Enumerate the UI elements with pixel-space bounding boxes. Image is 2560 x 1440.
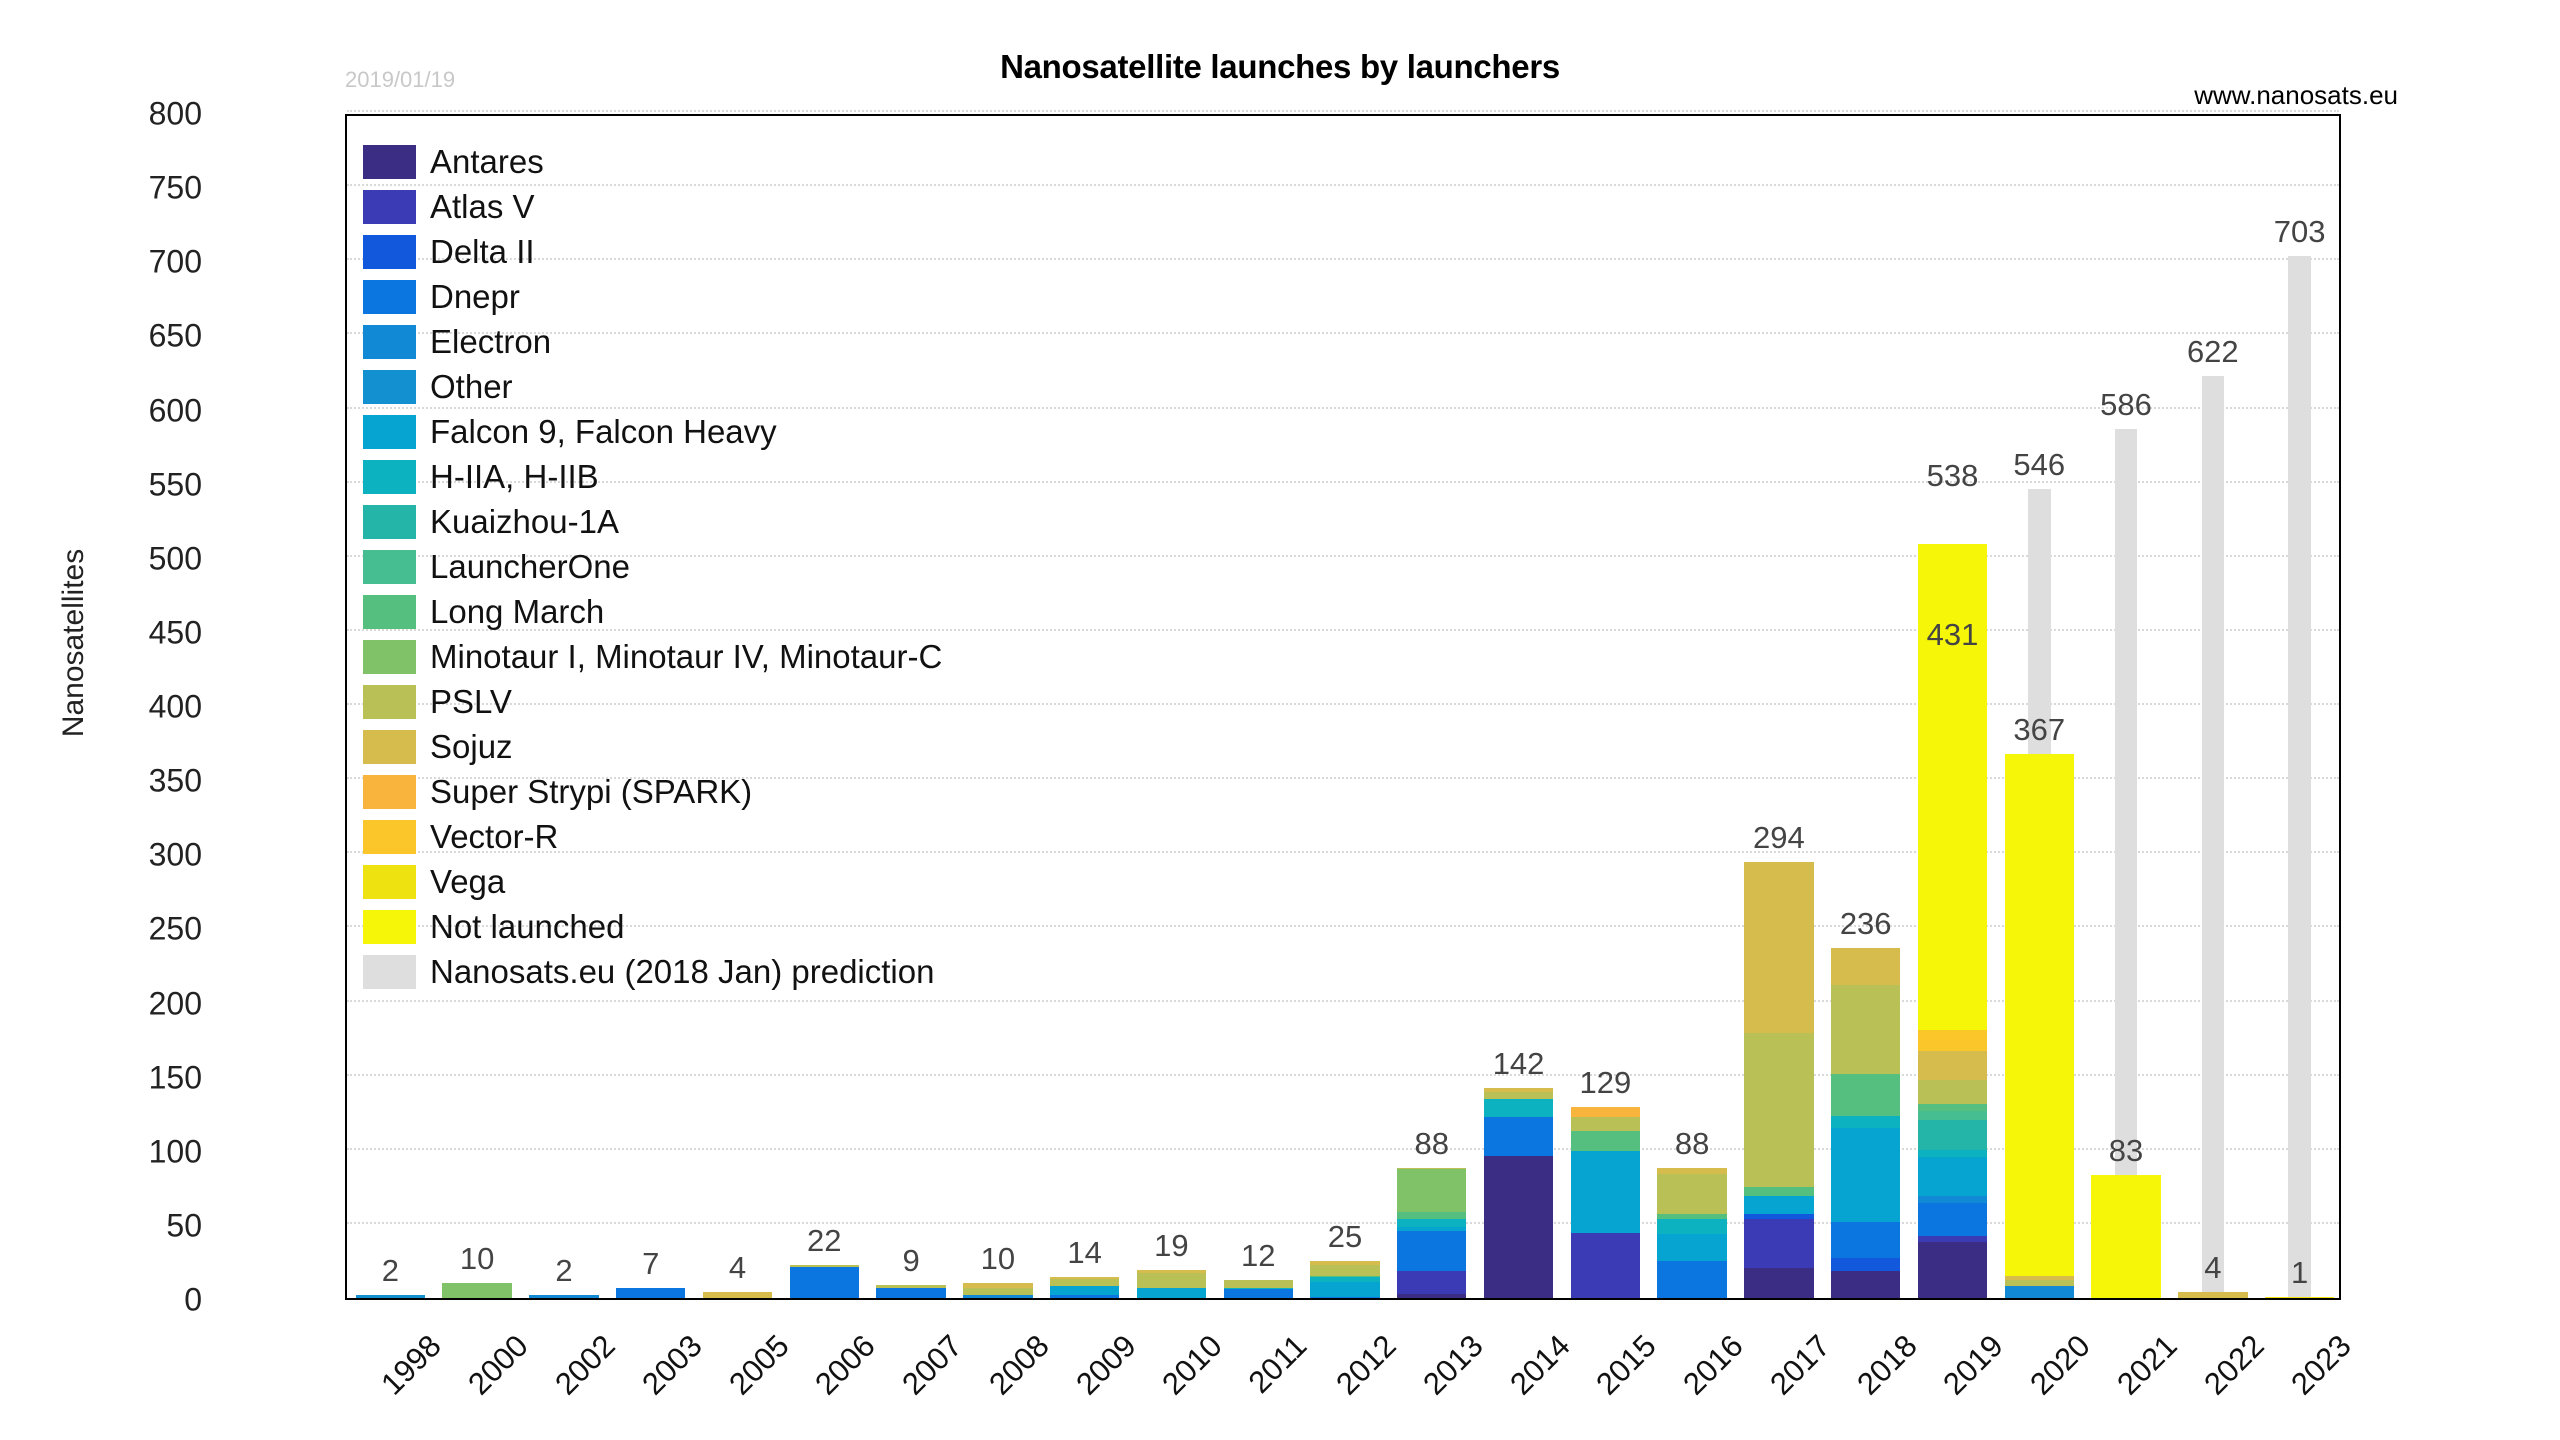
bar-value-label: 2	[382, 1253, 399, 1289]
bar-segment[interactable]	[1224, 1289, 1293, 1298]
bar-segment[interactable]	[1918, 1104, 1987, 1111]
bar-segment[interactable]	[1744, 1268, 1813, 1298]
stacked-bar[interactable]	[442, 1283, 511, 1298]
legend-item-label: Vega	[430, 865, 505, 898]
x-tick-label: 2010	[1156, 1328, 1230, 1402]
bar-segment[interactable]	[1050, 1295, 1119, 1298]
bar-segment[interactable]	[1484, 1092, 1553, 1099]
y-tick-label: 350	[0, 763, 202, 800]
bar-segment[interactable]	[963, 1288, 1032, 1295]
legend-item[interactable]: Falcon 9, Falcon Heavy	[363, 409, 942, 454]
legend-item-label: LauncherOne	[430, 550, 630, 583]
x-tick-label: 2022	[2197, 1328, 2271, 1402]
bar-segment[interactable]	[356, 1295, 425, 1298]
prediction-value-label: 703	[2274, 214, 2326, 250]
bar-segment[interactable]	[1831, 1074, 1900, 1116]
legend-swatch-icon	[363, 460, 416, 494]
bar-segment[interactable]	[1744, 1187, 1813, 1196]
y-tick-label: 300	[0, 837, 202, 874]
legend-item-label: Atlas V	[430, 190, 535, 223]
bar-segment[interactable]	[1918, 1080, 1987, 1104]
y-tick-label: 700	[0, 244, 202, 281]
x-tick-label: 2020	[2023, 1328, 2097, 1402]
bar-value-label: 12	[1241, 1238, 1275, 1274]
bar-segment[interactable]	[1918, 1196, 1987, 1203]
bar-segment[interactable]	[1831, 1258, 1900, 1271]
stacked-bar[interactable]	[2178, 1292, 2247, 1298]
legend-item[interactable]: Not launched	[363, 904, 942, 949]
x-tick-label: 2018	[1850, 1328, 1924, 1402]
bar-segment[interactable]	[1571, 1151, 1640, 1233]
y-tick-label: 200	[0, 985, 202, 1022]
bar-segment[interactable]	[1397, 1294, 1466, 1298]
legend-item-label: Kuaizhou-1A	[430, 505, 619, 538]
bar-segment[interactable]	[2005, 754, 2074, 1276]
stacked-bar[interactable]	[1484, 1088, 1553, 1299]
bar-segment[interactable]	[1484, 1099, 1553, 1117]
legend-item[interactable]: Dnepr	[363, 274, 942, 319]
bar-value-label: 142	[1493, 1046, 1545, 1082]
legend-swatch-icon	[363, 910, 416, 944]
y-tick-label: 500	[0, 540, 202, 577]
x-tick-label: 2019	[1937, 1328, 2011, 1402]
y-tick-label: 750	[0, 170, 202, 207]
bar-value-label: 88	[1415, 1126, 1449, 1162]
legend-item-label: Dnepr	[430, 280, 520, 313]
stacked-bar[interactable]	[1137, 1270, 1206, 1298]
y-tick-label: 800	[0, 96, 202, 133]
x-tick-label: 2000	[461, 1328, 535, 1402]
legend-swatch-icon	[363, 235, 416, 269]
stacked-bar[interactable]	[1397, 1168, 1466, 1298]
bar-segment[interactable]	[616, 1288, 685, 1298]
bar-value-label: 294	[1753, 820, 1805, 856]
bar-segment[interactable]	[1657, 1234, 1726, 1261]
legend-item-label: Super Strypi (SPARK)	[430, 775, 752, 808]
bar-segment[interactable]	[1571, 1131, 1640, 1152]
legend-item[interactable]: Vega	[363, 859, 942, 904]
y-tick-label: 450	[0, 614, 202, 651]
bar-segment[interactable]	[1744, 1196, 1813, 1214]
stacked-bar[interactable]	[529, 1295, 598, 1298]
bar-segment[interactable]	[1397, 1231, 1466, 1271]
bar-value-label: 14	[1067, 1235, 1101, 1271]
bar-segment[interactable]	[1397, 1271, 1466, 1293]
legend-item-label: H-IIA, H-IIB	[430, 460, 599, 493]
bar-segment[interactable]	[1657, 1174, 1726, 1214]
x-tick-label: 2005	[722, 1328, 796, 1402]
legend: AntaresAtlas VDelta IIDneprElectronOther…	[363, 139, 942, 994]
bar-segment[interactable]	[1918, 1120, 1987, 1150]
stacked-bar[interactable]	[2091, 1175, 2160, 1298]
legend-item-label: Delta II	[430, 235, 535, 268]
y-tick-label: 50	[0, 1207, 202, 1244]
stacked-bar[interactable]	[1050, 1277, 1119, 1298]
stacked-bar[interactable]	[1744, 862, 1813, 1298]
legend-swatch-icon	[363, 865, 416, 899]
bar-segment[interactable]	[876, 1288, 945, 1298]
legend-item[interactable]: Other	[363, 364, 942, 409]
bar-segment[interactable]	[1050, 1286, 1119, 1295]
legend-item[interactable]: Kuaizhou-1A	[363, 499, 942, 544]
bar-segment[interactable]	[2091, 1175, 2160, 1298]
stacked-bar[interactable]	[703, 1292, 772, 1298]
bar-segment[interactable]	[1050, 1279, 1119, 1286]
legend-swatch-icon	[363, 775, 416, 809]
bar-value-label: 88	[1675, 1126, 1709, 1162]
y-tick-label: 0	[0, 1282, 202, 1319]
x-tick-label: 2007	[895, 1328, 969, 1402]
stacked-bar[interactable]	[876, 1285, 945, 1298]
gridline	[347, 110, 2339, 112]
bar-segment[interactable]	[703, 1292, 772, 1298]
legend-item[interactable]: Electron	[363, 319, 942, 364]
x-tick-label: 2003	[635, 1328, 709, 1402]
bar-segment[interactable]	[1831, 1271, 1900, 1298]
bar-value-label: 7	[642, 1246, 659, 1282]
stacked-bar[interactable]	[356, 1295, 425, 1298]
bar-segment[interactable]	[1918, 1150, 1987, 1157]
bar-value-label: 22	[807, 1223, 841, 1259]
legend-item[interactable]: Long March	[363, 589, 942, 634]
prediction-bar[interactable]	[2202, 376, 2225, 1298]
legend-swatch-icon	[363, 820, 416, 854]
bar-segment[interactable]	[1310, 1282, 1379, 1297]
x-tick-label: 2016	[1676, 1328, 1750, 1402]
bar-value-label: 10	[460, 1241, 494, 1277]
y-tick-label: 150	[0, 1059, 202, 1096]
stamp-date: 2019/01/19	[345, 67, 455, 93]
bar-segment[interactable]	[1224, 1280, 1293, 1287]
bar-value-label: 2	[555, 1253, 572, 1289]
stacked-bar[interactable]	[1571, 1107, 1640, 1298]
bar-segment[interactable]	[1137, 1273, 1206, 1288]
bar-value-label: 129	[1579, 1065, 1631, 1101]
bar-value-label: 4	[729, 1250, 746, 1286]
legend-item-label: Not launched	[430, 910, 624, 943]
x-tick-label: 2021	[2110, 1328, 2184, 1402]
legend-item[interactable]: PSLV	[363, 679, 942, 724]
bar-segment[interactable]	[1310, 1297, 1379, 1298]
bar-segment[interactable]	[1918, 1242, 1987, 1298]
prediction-bar[interactable]	[2288, 256, 2311, 1298]
legend-swatch-icon	[363, 955, 416, 989]
prediction-value-label: 622	[2187, 334, 2239, 370]
prediction-value-label: 586	[2100, 387, 2152, 423]
bar-segment[interactable]	[1397, 1219, 1466, 1226]
x-tick-label: 2009	[1069, 1328, 1143, 1402]
stacked-bar[interactable]	[1657, 1168, 1726, 1298]
bar-segment[interactable]	[1484, 1117, 1553, 1156]
stacked-bar[interactable]	[790, 1265, 859, 1298]
stacked-bar[interactable]	[2265, 1297, 2334, 1298]
y-tick-label: 250	[0, 911, 202, 948]
legend-swatch-icon	[363, 370, 416, 404]
legend-swatch-icon	[363, 325, 416, 359]
x-tick-label: 1998	[375, 1328, 449, 1402]
x-tick-label: 2015	[1590, 1328, 1664, 1402]
x-tick-label: 2008	[982, 1328, 1056, 1402]
x-tick-label: 2012	[1329, 1328, 1403, 1402]
stacked-bar[interactable]	[1310, 1261, 1379, 1298]
legend-item-label: Vector-R	[430, 820, 558, 853]
bar-segment[interactable]	[1918, 1203, 1987, 1236]
x-tick-label: 2011	[1242, 1328, 1315, 1401]
legend-item[interactable]: H-IIA, H-IIB	[363, 454, 942, 499]
y-tick-label: 100	[0, 1133, 202, 1170]
legend-item-label: Other	[430, 370, 513, 403]
bar-segment[interactable]	[1918, 1030, 1987, 1051]
stacked-bar[interactable]	[2005, 754, 2074, 1298]
bar-segment[interactable]	[1571, 1107, 1640, 1117]
legend-item-label: Nanosats.eu (2018 Jan) prediction	[430, 955, 934, 988]
legend-item-label: Electron	[430, 325, 551, 358]
bar-segment[interactable]	[1571, 1117, 1640, 1130]
legend-item-label: Falcon 9, Falcon Heavy	[430, 415, 777, 448]
legend-item[interactable]: Super Strypi (SPARK)	[363, 769, 942, 814]
legend-item-label: Long March	[430, 595, 604, 628]
legend-swatch-icon	[363, 505, 416, 539]
legend-item[interactable]: Minotaur I, Minotaur IV, Minotaur-C	[363, 634, 942, 679]
bar-value-label: 9	[902, 1243, 919, 1279]
legend-swatch-icon	[363, 730, 416, 764]
y-tick-label: 600	[0, 392, 202, 429]
y-tick-label: 400	[0, 689, 202, 726]
x-tick-label: 2023	[2284, 1328, 2358, 1402]
stacked-bar[interactable]	[616, 1288, 685, 1298]
bar-segment[interactable]	[442, 1283, 511, 1298]
x-tick-label: 2017	[1763, 1328, 1837, 1402]
x-tick-label: 2013	[1416, 1328, 1490, 1402]
legend-swatch-icon	[363, 190, 416, 224]
bar-segment[interactable]	[2005, 1286, 2074, 1298]
bar-segment[interactable]	[1831, 1128, 1900, 1223]
bar-segment[interactable]	[1831, 985, 1900, 1074]
legend-item[interactable]: Atlas V	[363, 184, 942, 229]
bar-segment[interactable]	[1657, 1261, 1726, 1298]
legend-item-label: Minotaur I, Minotaur IV, Minotaur-C	[430, 640, 942, 673]
bar-segment[interactable]	[1484, 1156, 1553, 1298]
legend-item[interactable]: Delta II	[363, 229, 942, 274]
bar-segment[interactable]	[1831, 948, 1900, 985]
bar-value-label: 538	[1927, 458, 1979, 494]
y-tick-label: 650	[0, 318, 202, 355]
bar-segment[interactable]	[1657, 1219, 1726, 1234]
bar-segment[interactable]	[2178, 1292, 2247, 1298]
prediction-value-label: 546	[2013, 447, 2065, 483]
x-tick-label: 2014	[1503, 1328, 1577, 1402]
legend-swatch-icon	[363, 280, 416, 314]
legend-swatch-icon	[363, 145, 416, 179]
bar-segment[interactable]	[1310, 1265, 1379, 1275]
y-tick-label: 550	[0, 466, 202, 503]
bar-value-label: 367	[2013, 712, 2065, 748]
legend-item-label: PSLV	[430, 685, 512, 718]
stacked-bar[interactable]	[1831, 948, 1900, 1298]
bar-segment[interactable]	[1397, 1169, 1466, 1212]
bar-value-label: 25	[1328, 1219, 1362, 1255]
bar-value-label: 19	[1154, 1228, 1188, 1264]
bar-segment[interactable]	[1744, 862, 1813, 1032]
chart-page: Nanosatellite launches by launchers www.…	[0, 0, 2560, 1440]
bar-segment[interactable]	[1831, 1116, 1900, 1128]
bar-value-label: 4	[2204, 1250, 2221, 1286]
bar-segment[interactable]	[1137, 1288, 1206, 1298]
bar-segment[interactable]	[790, 1267, 859, 1298]
prediction-value-label: 431	[1927, 617, 1979, 653]
bar-segment[interactable]	[2265, 1297, 2334, 1298]
stacked-bar[interactable]	[1224, 1280, 1293, 1298]
bar-value-label: 236	[1840, 906, 1892, 942]
x-tick-label: 2002	[548, 1328, 622, 1402]
bar-segment[interactable]	[1744, 1219, 1813, 1268]
legend-item-label: Antares	[430, 145, 544, 178]
legend-swatch-icon	[363, 640, 416, 674]
bar-value-label: 10	[981, 1241, 1015, 1277]
legend-swatch-icon	[363, 415, 416, 449]
legend-item-label: Sojuz	[430, 730, 513, 763]
legend-item[interactable]: LauncherOne	[363, 544, 942, 589]
stacked-bar[interactable]	[963, 1283, 1032, 1298]
bar-value-label: 1	[2291, 1255, 2308, 1291]
bar-segment[interactable]	[529, 1295, 598, 1298]
site-url: www.nanosats.eu	[2194, 80, 2398, 111]
bar-segment[interactable]	[1397, 1212, 1466, 1219]
bar-segment[interactable]	[1918, 1157, 1987, 1196]
bar-segment[interactable]	[1831, 1222, 1900, 1258]
legend-swatch-icon	[363, 550, 416, 584]
bar-segment[interactable]	[963, 1295, 1032, 1298]
bar-segment[interactable]	[1571, 1233, 1640, 1298]
bar-value-label: 83	[2109, 1133, 2143, 1169]
bar-segment[interactable]	[1744, 1033, 1813, 1187]
legend-item[interactable]: Nanosats.eu (2018 Jan) prediction	[363, 949, 942, 994]
x-tick-label: 2006	[808, 1328, 882, 1402]
bar-segment[interactable]	[1918, 1051, 1987, 1081]
bar-segment[interactable]	[1918, 1111, 1987, 1120]
legend-item[interactable]: Vector-R	[363, 814, 942, 859]
legend-item[interactable]: Sojuz	[363, 724, 942, 769]
legend-swatch-icon	[363, 595, 416, 629]
legend-swatch-icon	[363, 685, 416, 719]
legend-item[interactable]: Antares	[363, 139, 942, 184]
